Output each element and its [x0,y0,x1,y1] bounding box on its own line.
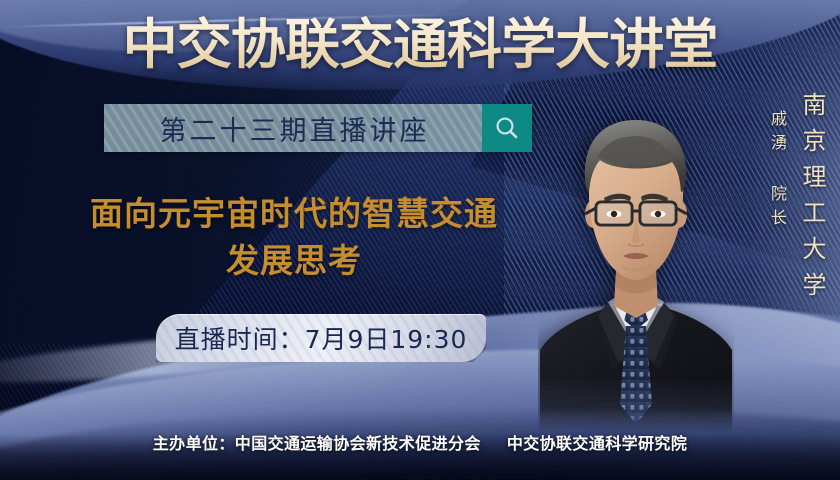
speaker-name-and-role: 戚湧 院长 [765,92,789,233]
page-title: 中交协联交通科学大讲堂 [0,14,840,76]
episode-label: 第二十三期直播讲座 [157,109,430,148]
speaker-portrait [538,94,734,432]
lecture-topic-line-2: 发展思考 [34,237,554,284]
organizer-name-2: 中交协联交通科学研究院 [507,434,687,453]
live-lecture-poster: 中交协联交通科学大讲堂 第二十三期直播讲座 面向元宇宙时代的智慧交通 发展思考 … [0,0,840,480]
organizer-footer: 主办单位：中国交通运输协会新技术促进分会中交协联交通科学研究院 [0,430,840,454]
organizer-prefix: 主办单位： [153,434,235,453]
episode-banner-fill: 第二十三期直播讲座 [104,104,482,152]
search-icon[interactable] [482,104,532,152]
broadcast-time-badge: 直播时间：7月9日19:30 [156,314,486,362]
lecture-topic: 面向元宇宙时代的智慧交通 发展思考 [34,190,554,284]
broadcast-time-text: 直播时间：7月9日19:30 [175,320,468,356]
speaker-credits: 戚湧 院长 南京理工大学 [765,92,830,308]
organizer-name-1: 中国交通运输协会新技术促进分会 [235,434,481,453]
speaker-organization: 南京理工大学 [795,92,830,308]
episode-banner: 第二十三期直播讲座 [104,104,532,152]
lecture-topic-line-1: 面向元宇宙时代的智慧交通 [34,190,554,237]
